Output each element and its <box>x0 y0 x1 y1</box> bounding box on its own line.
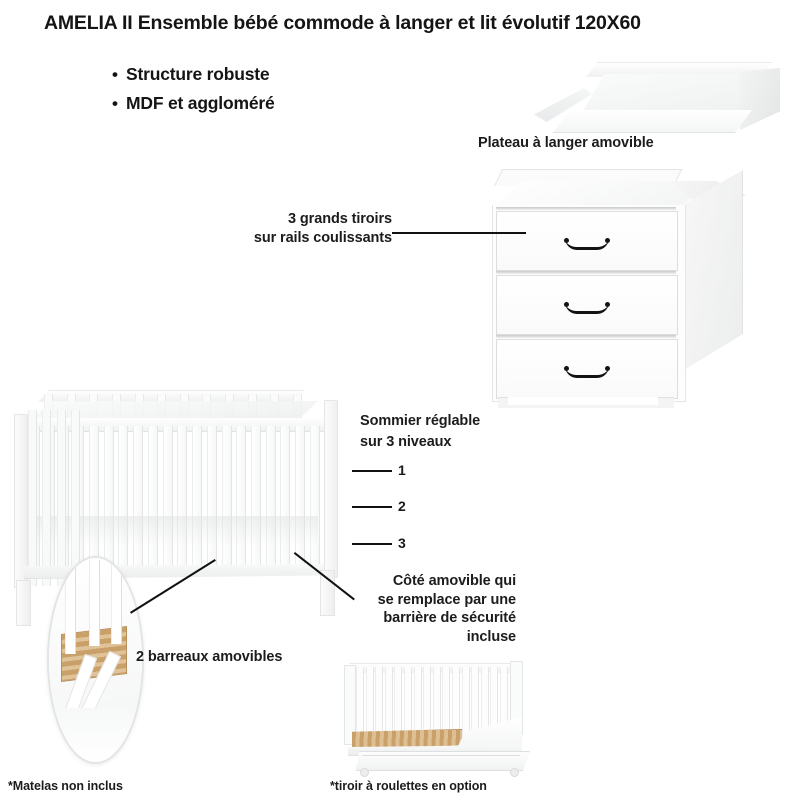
leader-line-level-2 <box>352 506 392 508</box>
inset-slat-fixed-2 <box>89 560 100 646</box>
callout-cote-amovible: Côté amovible qui se remplace par une ba… <box>370 572 516 646</box>
page-title: AMELIA II Ensemble bébé commode à langer… <box>44 12 641 35</box>
crib-right-post <box>324 400 338 578</box>
footnote-matelas: *Matelas non inclus <box>8 777 123 796</box>
inset-floor <box>49 708 142 762</box>
toddler-rolling-drawer <box>356 751 530 771</box>
callout-plateau: Plateau à langer amovible <box>478 134 654 153</box>
drawer-handle-icon <box>565 302 609 311</box>
oval-magnifier-icon <box>47 556 144 764</box>
leader-line-level-3 <box>352 543 392 545</box>
callout-barreaux: 2 barreaux amovibles <box>136 648 282 667</box>
leader-line-tiroirs <box>392 232 526 234</box>
list-item: • MDF et aggloméré <box>112 89 275 118</box>
drawer-1 <box>496 211 678 271</box>
drawer-2 <box>496 275 678 335</box>
toddler-drawer-seam <box>362 755 520 756</box>
drawer-3 <box>496 339 678 399</box>
inset-slat-fixed-3 <box>111 564 122 644</box>
drawer-gap <box>496 207 676 210</box>
bullet-dot-icon: • <box>112 90 126 118</box>
toddler-drawer-wheel-left <box>360 768 369 777</box>
tray-front-rail <box>540 110 752 133</box>
leader-line-level-1 <box>352 470 392 472</box>
dresser-kick-cutout <box>508 397 658 405</box>
callout-sommier: Sommier réglable sur 3 niveaux <box>360 411 480 453</box>
feature-list: • Structure robuste • MDF et aggloméré <box>112 60 275 118</box>
level-number-1: 1 <box>398 462 406 478</box>
toddler-drawer-wheel-right <box>510 768 519 777</box>
footnote-tiroir-roulettes: *tiroir à roulettes en option <box>330 777 487 796</box>
tray-right-rail <box>740 68 780 130</box>
drawer-gap <box>496 335 676 338</box>
crib-left-post <box>14 414 28 588</box>
infographic-canvas: AMELIA II Ensemble bébé commode à langer… <box>0 0 800 800</box>
level-number-3: 3 <box>398 535 406 551</box>
callout-tiroirs: 3 grands tiroirs sur rails coulissants <box>206 210 392 248</box>
toddler-bed-image <box>330 655 545 773</box>
dresser-side-panel <box>684 170 743 370</box>
drawer-gap <box>496 271 676 274</box>
bullet-dot-icon: • <box>112 61 126 89</box>
crib-leg-left <box>16 580 31 626</box>
dresser-image <box>490 165 755 410</box>
feature-label: MDF et aggloméré <box>126 89 275 117</box>
drawer-handle-icon <box>565 366 609 375</box>
inset-slat-fixed-1 <box>65 562 76 654</box>
feature-label: Structure robuste <box>126 60 269 88</box>
level-number-2: 2 <box>398 498 406 514</box>
drawer-handle-icon <box>565 238 609 247</box>
list-item: • Structure robuste <box>112 60 275 89</box>
